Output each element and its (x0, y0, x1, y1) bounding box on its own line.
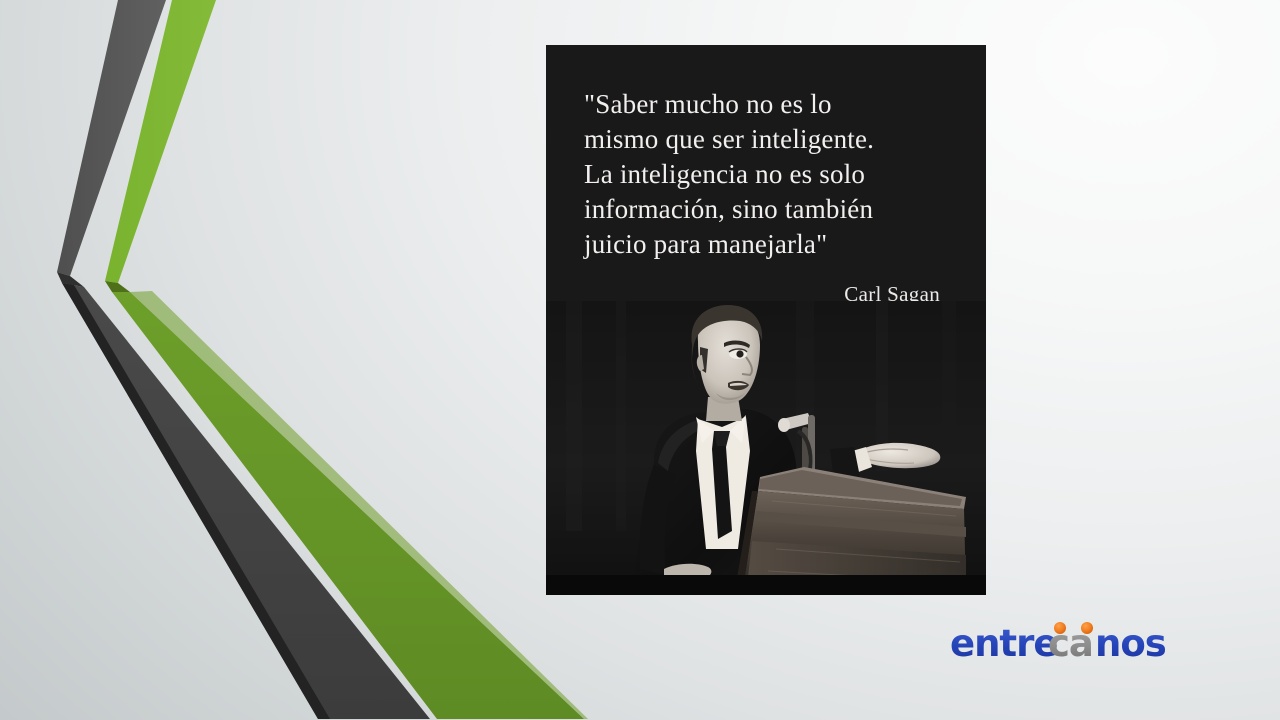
chevron-green (105, 0, 588, 719)
quote-card: "Saber mucho no es lo mismo que ser inte… (546, 45, 986, 595)
logo-text-entre: entre (950, 622, 1057, 665)
entrecanos-logo-mark: entre ca nos (948, 616, 1196, 672)
entrecanos-logo: entre ca nos (948, 616, 1196, 672)
speaker-photo-illustration (546, 301, 986, 595)
quote-line: "Saber mucho no es lo (584, 87, 944, 122)
quote-line: información, sino también (584, 192, 944, 227)
slide-canvas: "Saber mucho no es lo mismo que ser inte… (0, 0, 1280, 720)
logo-dot-icon (1081, 622, 1093, 634)
quote-line: mismo que ser inteligente. (584, 122, 944, 157)
quote-line: juicio para manejarla" (584, 227, 944, 262)
quote-text-area: "Saber mucho no es lo mismo que ser inte… (546, 45, 986, 285)
quote-line: La inteligencia no es solo (584, 157, 944, 192)
speaker-photo (546, 301, 986, 595)
quote-body: "Saber mucho no es lo mismo que ser inte… (584, 87, 944, 262)
logo-text-nos: nos (1095, 622, 1166, 665)
logo-dot-icon (1054, 622, 1066, 634)
